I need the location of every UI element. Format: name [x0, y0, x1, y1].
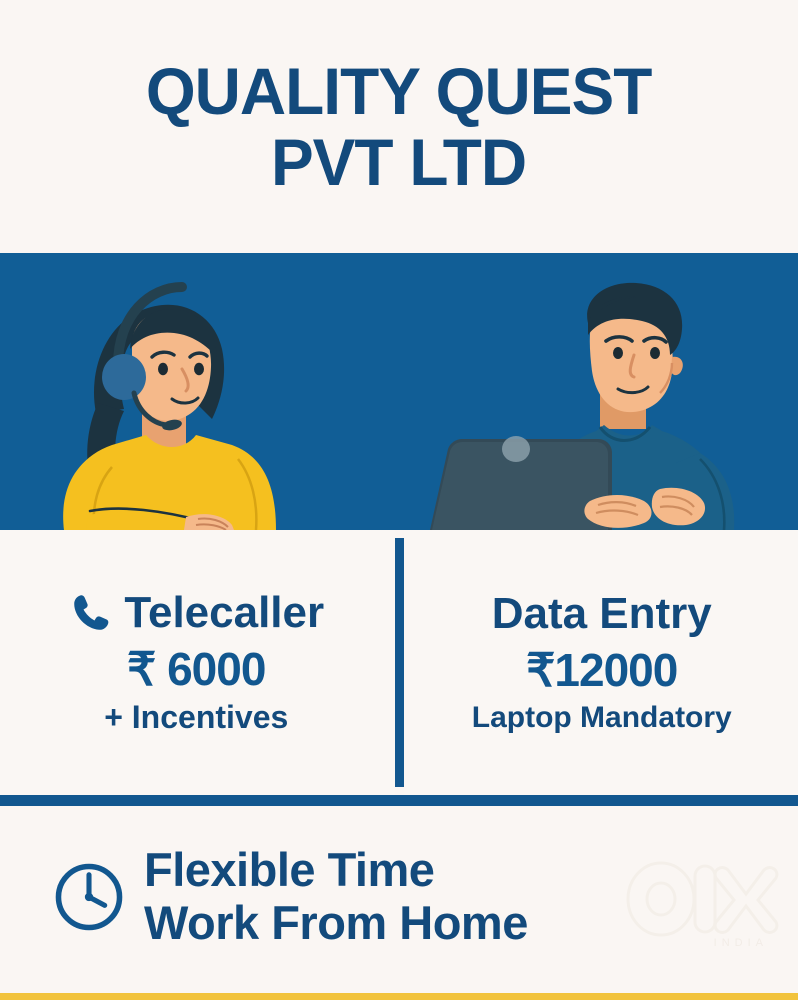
footer-line-1: Flexible Time [144, 844, 528, 897]
job-advertisement-poster: QUALITY QUEST PVT LTD [0, 0, 798, 1000]
olx-watermark: INDIA [622, 856, 782, 949]
telecaller-title: Telecaller [124, 590, 324, 636]
telecaller-note: + Incentives [104, 700, 288, 735]
workers-illustration [0, 253, 798, 530]
job-card-data-entry[interactable]: Data Entry ₹12000 Laptop Mandatory [404, 530, 798, 795]
section-divider-rule [0, 795, 798, 806]
company-name-line-2: PVT LTD [271, 127, 526, 198]
olx-logo-icon [622, 856, 782, 942]
bottom-accent-bar [0, 993, 798, 1000]
company-title-block: QUALITY QUEST PVT LTD [0, 0, 798, 253]
footer-content: Flexible Time Work From Home [52, 844, 528, 949]
data-entry-title: Data Entry [492, 591, 712, 637]
illustration-band [0, 253, 798, 530]
data-entry-title-row: Data Entry [492, 591, 712, 637]
clock-icon [52, 860, 126, 934]
footer-benefits-block: Flexible Time Work From Home INDIA [0, 806, 798, 993]
data-entry-salary: ₹12000 [526, 645, 677, 696]
phone-icon [68, 590, 114, 636]
company-name-line-1: QUALITY QUEST [146, 56, 652, 127]
telecaller-title-row: Telecaller [68, 590, 324, 636]
olx-watermark-sub: INDIA [622, 937, 782, 949]
footer-text: Flexible Time Work From Home [144, 844, 528, 949]
job-cards-row: Telecaller ₹ 6000 + Incentives Data Entr… [0, 530, 798, 795]
footer-line-2: Work From Home [144, 897, 528, 950]
telecaller-salary: ₹ 6000 [127, 644, 265, 695]
data-entry-note: Laptop Mandatory [472, 701, 732, 734]
cards-vertical-divider [395, 538, 404, 787]
job-card-telecaller[interactable]: Telecaller ₹ 6000 + Incentives [0, 530, 395, 795]
